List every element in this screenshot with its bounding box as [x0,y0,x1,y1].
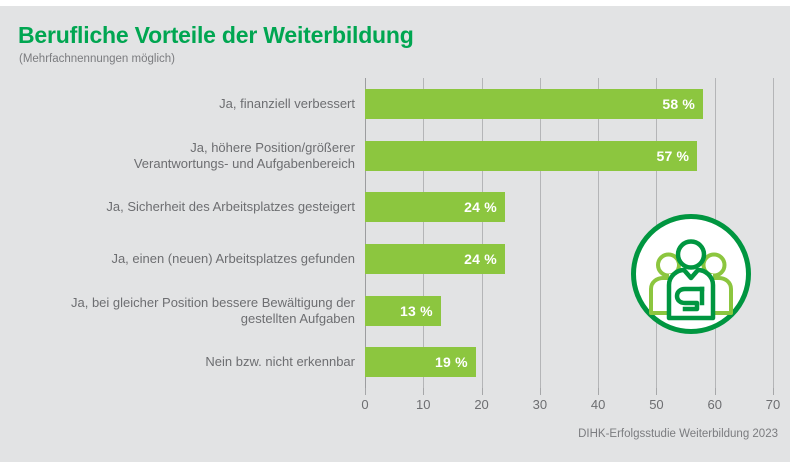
bar[interactable]: 24 % [365,192,505,222]
gridline-30 [540,78,541,388]
x-tick-label-10: 10 [416,397,430,412]
category-label: Ja, höhere Position/größererVerantwortun… [10,140,365,172]
bar[interactable]: 19 % [365,347,476,377]
gridline-0 [365,78,366,388]
bar-value-label: 19 % [435,354,468,370]
gridline-10 [423,78,424,388]
x-tick-mark-10 [423,388,424,395]
bar-slot: 57 % [365,141,697,171]
category-label-line: Nein bzw. nicht erkennbar [10,354,355,370]
x-tick-label-50: 50 [649,397,663,412]
gridline-70 [773,78,774,388]
page-title: Berufliche Vorteile der Weiterbildung [18,22,414,49]
bar-value-label: 13 % [400,303,433,319]
category-label-line: Ja, finanziell verbessert [10,96,355,112]
x-axis: 010203040506070 [365,388,773,418]
gridline-40 [598,78,599,388]
chart-figure: Berufliche Vorteile der Weiterbildung (M… [0,0,800,476]
category-label-line: Ja, einen (neuen) Arbeitsplatzes gefunde… [10,251,355,267]
bar-value-label: 24 % [464,199,497,215]
category-label: Ja, Sicherheit des Arbeitsplatzes gestei… [10,199,365,215]
group-of-people-badge [629,212,753,336]
bar[interactable]: 57 % [365,141,697,171]
x-tick-label-70: 70 [766,397,780,412]
x-tick-label-60: 60 [707,397,721,412]
x-tick-label-0: 0 [361,397,368,412]
x-tick-mark-0 [365,388,366,395]
category-label-group: Ja, finanziell verbessertJa, höhere Posi… [0,78,365,388]
source-note: DIHK-Erfolgsstudie Weiterbildung 2023 [578,428,778,440]
category-label-line: Verantwortungs- und Aufgabenbereich [10,156,355,172]
x-tick-mark-30 [540,388,541,395]
category-label-line: Ja, höhere Position/größerer [10,140,355,156]
bar[interactable]: 24 % [365,244,505,274]
group-of-people-icon [629,212,753,336]
category-label: Ja, bei gleicher Position bessere Bewält… [10,295,365,327]
x-tick-mark-20 [482,388,483,395]
bar-value-label: 24 % [464,251,497,267]
category-label-line: Ja, Sicherheit des Arbeitsplatzes gestei… [10,199,355,215]
category-label-line: gestellten Aufgaben [10,311,355,327]
bar[interactable]: 58 % [365,89,703,119]
bar-slot: 24 % [365,244,505,274]
x-tick-mark-50 [656,388,657,395]
x-tick-label-40: 40 [591,397,605,412]
x-tick-label-20: 20 [474,397,488,412]
x-tick-mark-60 [715,388,716,395]
bar-slot: 13 % [365,296,441,326]
bar-value-label: 57 % [657,148,690,164]
x-tick-label-30: 30 [533,397,547,412]
category-label-line: Ja, bei gleicher Position bessere Bewält… [10,295,355,311]
x-tick-mark-70 [773,388,774,395]
x-tick-mark-40 [598,388,599,395]
category-label: Ja, finanziell verbessert [10,96,365,112]
category-label: Ja, einen (neuen) Arbeitsplatzes gefunde… [10,251,365,267]
bar-slot: 19 % [365,347,476,377]
bar-value-label: 58 % [662,96,695,112]
bar[interactable]: 13 % [365,296,441,326]
bar-slot: 58 % [365,89,703,119]
bar-slot: 24 % [365,192,505,222]
category-label: Nein bzw. nicht erkennbar [10,354,365,370]
chart-subtitle: (Mehrfachnennungen möglich) [19,53,175,65]
gridline-20 [482,78,483,388]
